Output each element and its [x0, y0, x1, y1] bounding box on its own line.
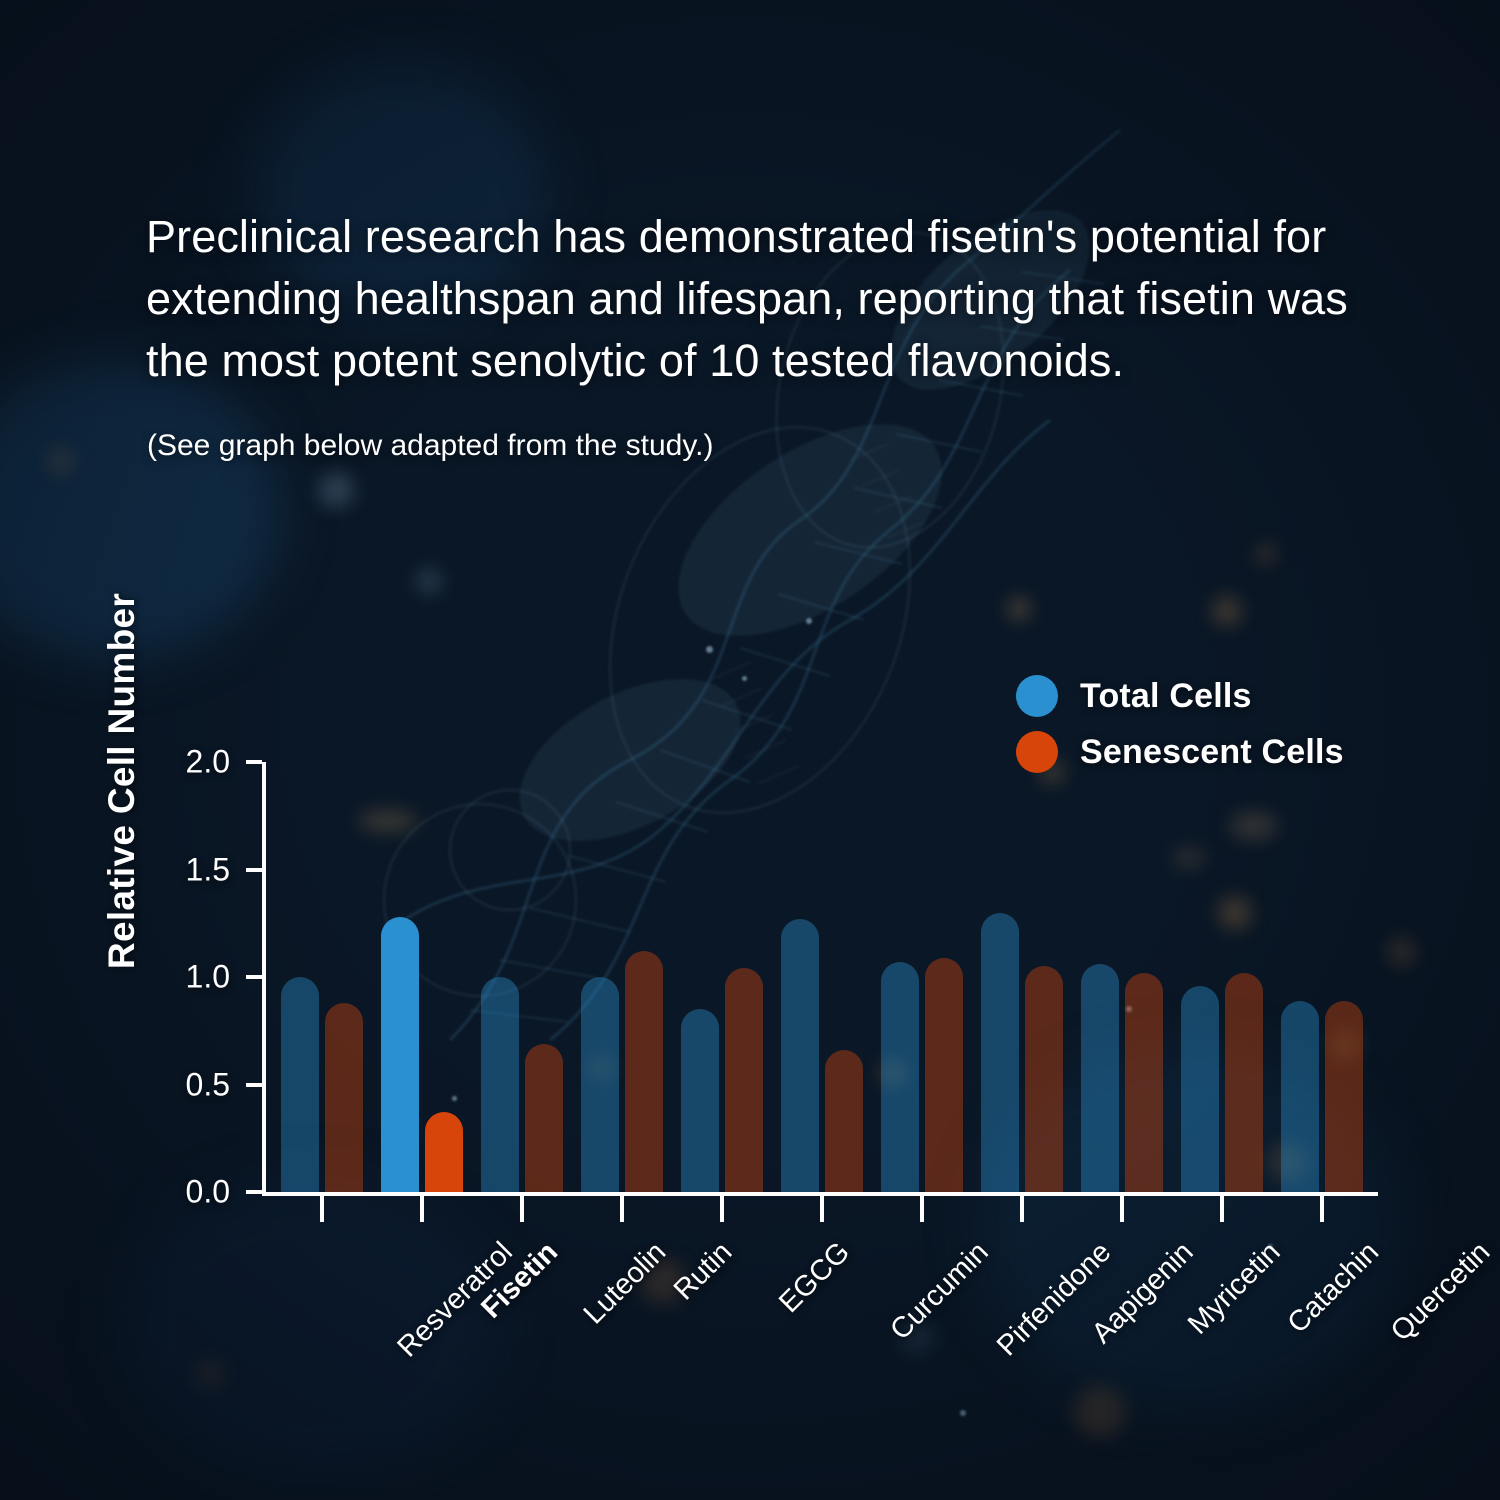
- x-axis-tick-label: Myricetin: [1182, 1236, 1287, 1341]
- y-axis-tick-mark: [246, 975, 262, 979]
- bar-senescent-cells[interactable]: [525, 1044, 563, 1192]
- bar-total-cells[interactable]: [981, 913, 1019, 1193]
- bar-senescent-cells[interactable]: [825, 1050, 863, 1192]
- y-axis-tick-mark: [246, 1083, 262, 1087]
- x-axis-tick-mark: [420, 1196, 424, 1222]
- x-axis-tick-mark: [920, 1196, 924, 1222]
- bar-total-cells[interactable]: [1181, 986, 1219, 1192]
- bar-senescent-cells[interactable]: [1025, 966, 1063, 1192]
- x-axis-tick-mark: [1020, 1196, 1024, 1222]
- bar-total-cells[interactable]: [1081, 964, 1119, 1192]
- y-axis-tick-mark: [246, 868, 262, 872]
- x-axis-tick-label: Luteolin: [578, 1236, 673, 1331]
- y-axis-title: Relative Cell Number: [101, 561, 143, 1001]
- bar-total-cells[interactable]: [281, 977, 319, 1192]
- bar-total-cells[interactable]: [1281, 1001, 1319, 1192]
- bar-total-cells[interactable]: [681, 1009, 719, 1192]
- bar-senescent-cells[interactable]: [1125, 973, 1163, 1192]
- x-axis-tick-label: Catachin: [1282, 1236, 1386, 1340]
- x-axis-tick-mark: [520, 1196, 524, 1222]
- y-axis-tick-label: 1.0: [140, 959, 230, 996]
- bar-total-cells[interactable]: [881, 962, 919, 1192]
- infographic-canvas: Preclinical research has demonstrated fi…: [0, 0, 1500, 1500]
- x-axis-tick-label: Rutin: [668, 1236, 739, 1307]
- x-axis-tick-label: Pirfenidone: [991, 1236, 1118, 1363]
- y-axis-tick-label: 2.0: [140, 744, 230, 781]
- bar-senescent-cells[interactable]: [1325, 1001, 1363, 1192]
- x-axis-tick-mark: [620, 1196, 624, 1222]
- x-axis-tick-label: EGCG: [773, 1236, 857, 1320]
- bar-senescent-cells[interactable]: [425, 1112, 463, 1192]
- x-axis-tick-mark: [1320, 1196, 1324, 1222]
- y-axis-tick-mark: [246, 1190, 262, 1194]
- bar-senescent-cells[interactable]: [325, 1003, 363, 1192]
- bar-total-cells[interactable]: [381, 917, 419, 1192]
- y-axis-tick-label: 0.0: [140, 1174, 230, 1211]
- bar-total-cells[interactable]: [581, 977, 619, 1192]
- x-axis-tick-mark: [720, 1196, 724, 1222]
- y-axis-tick-label: 0.5: [140, 1066, 230, 1103]
- y-axis-spine: [262, 762, 266, 1196]
- x-axis-tick-mark: [1220, 1196, 1224, 1222]
- x-axis-tick-mark: [820, 1196, 824, 1222]
- bar-senescent-cells[interactable]: [625, 951, 663, 1192]
- bar-chart: Relative Cell Number 0.00.51.01.52.0 Res…: [0, 0, 1500, 1500]
- y-axis-tick-label: 1.5: [140, 851, 230, 888]
- y-axis-tick-mark: [246, 760, 262, 764]
- x-axis-tick-mark: [320, 1196, 324, 1222]
- x-axis-tick-label: Curcumin: [884, 1236, 995, 1347]
- bar-senescent-cells[interactable]: [925, 958, 963, 1192]
- x-axis-tick-mark: [1120, 1196, 1124, 1222]
- bar-total-cells[interactable]: [481, 977, 519, 1192]
- bar-senescent-cells[interactable]: [725, 968, 763, 1192]
- bar-senescent-cells[interactable]: [1225, 973, 1263, 1192]
- bar-total-cells[interactable]: [781, 919, 819, 1192]
- x-axis-tick-label: Quercetin: [1385, 1236, 1497, 1348]
